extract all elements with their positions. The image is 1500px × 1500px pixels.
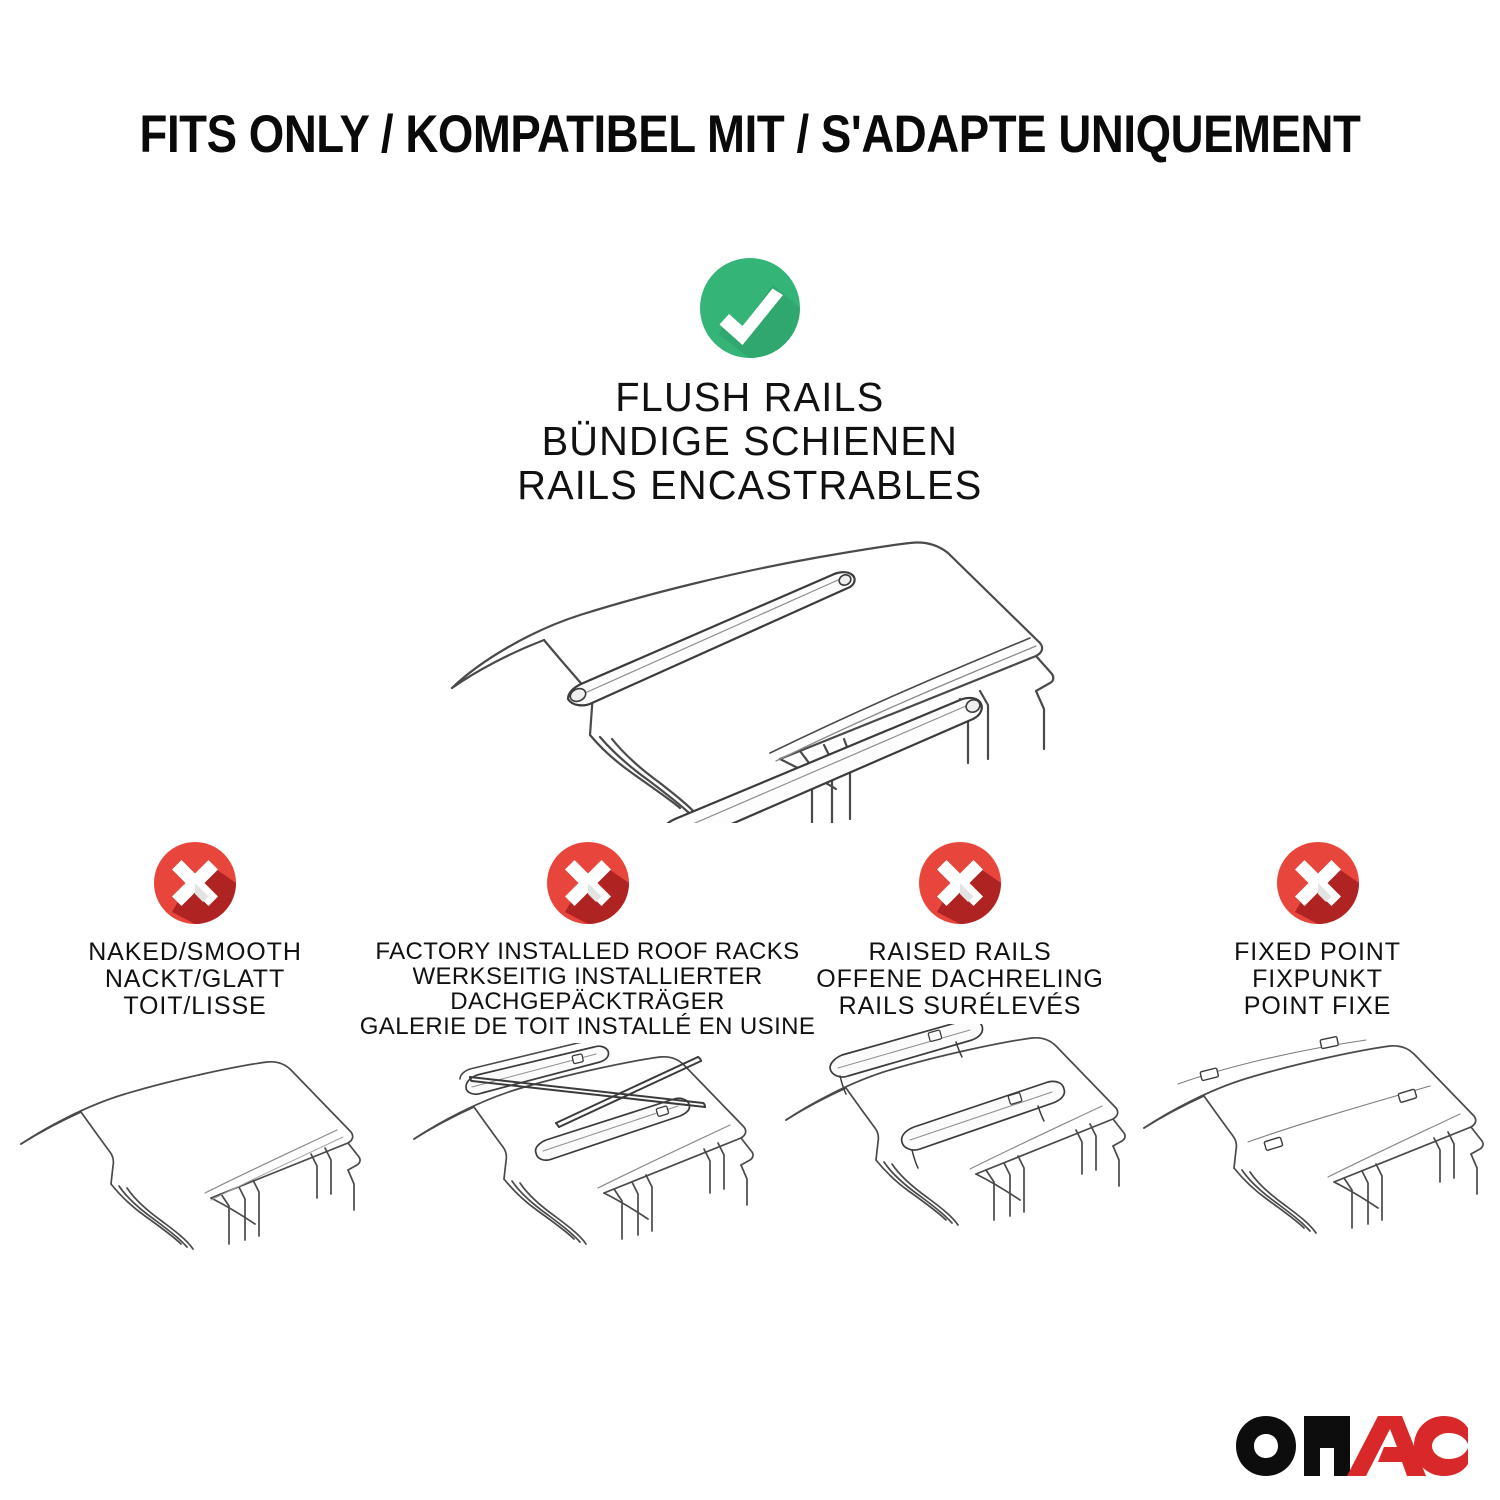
incompatible-item-fixed-point: FIXED POINT FIXPUNKT POINT FIXE [1135,840,1500,1252]
compatible-label-en: FLUSH RAILS [517,375,982,419]
incompatible-label-naked-smooth: NAKED/SMOOTH NACKT/GLATT TOIT/LISSE [88,939,302,1020]
x-circle-icon [152,840,238,926]
car-roof-flush-rails-illustration [440,523,1060,823]
incompatible-item-naked-smooth: NAKED/SMOOTH NACKT/GLATT TOIT/LISSE [0,840,390,1268]
compatibility-infographic: FITS ONLY / KOMPATIBEL MIT / S'ADAPTE UN… [0,0,1500,1500]
compatible-label-fr: RAILS ENCASTRABLES [517,463,982,507]
x-circle-icon [545,840,631,926]
page-title: FITS ONLY / KOMPATIBEL MIT / S'ADAPTE UN… [105,104,1395,165]
car-roof-fixed-point-illustration [1138,1032,1498,1252]
incompatible-section: NAKED/SMOOTH NACKT/GLATT TOIT/LISSE [0,840,1500,1268]
label-line-en: RAISED RAILS [816,939,1104,966]
label-line-en: FACTORY INSTALLED ROOF RACKS [360,939,816,964]
car-roof-raised-rails-illustration [780,1024,1140,1244]
label-line-de: NACKT/GLATT [88,966,302,993]
label-line-fr: RAILS SURÉLEVÉS [816,993,1104,1020]
x-circle-icon [917,840,1003,926]
compatible-section: FLUSH RAILS BÜNDIGE SCHIENEN RAILS ENCAS… [0,255,1500,823]
incompatible-label-factory-roof-racks: FACTORY INSTALLED ROOF RACKS WERKSEITIG … [360,939,816,1039]
incompatible-item-raised-rails: RAISED RAILS OFFENE DACHRELING RAILS SUR… [785,840,1135,1244]
label-line-de: OFFENE DACHRELING [816,966,1104,993]
incompatible-label-raised-rails: RAISED RAILS OFFENE DACHRELING RAILS SUR… [816,939,1104,1020]
label-line-en: FIXED POINT [1234,939,1401,966]
label-line-en: NAKED/SMOOTH [88,939,302,966]
label-line-fr: TOIT/LISSE [88,993,302,1020]
car-roof-naked-smooth-illustration [15,1048,375,1268]
check-circle-icon [697,255,803,361]
label-line-fr: POINT FIXE [1234,993,1401,1020]
label-line-de-2: DACHGEPÄCKTRÄGER [360,989,816,1014]
x-circle-icon [1275,840,1361,926]
incompatible-label-fixed-point: FIXED POINT FIXPUNKT POINT FIXE [1234,939,1401,1020]
incompatible-item-factory-roof-racks: FACTORY INSTALLED ROOF RACKS WERKSEITIG … [390,840,785,1263]
label-line-de-1: WERKSEITIG INSTALLIERTER [360,964,816,989]
omac-logo [1234,1410,1470,1482]
compatible-label: FLUSH RAILS BÜNDIGE SCHIENEN RAILS ENCAS… [517,375,982,507]
label-line-fr: GALERIE DE TOIT INSTALLÉ EN USINE [360,1014,816,1039]
compatible-label-de: BÜNDIGE SCHIENEN [517,419,982,463]
car-roof-factory-roof-racks-illustration [408,1043,768,1263]
label-line-de: FIXPUNKT [1234,966,1401,993]
